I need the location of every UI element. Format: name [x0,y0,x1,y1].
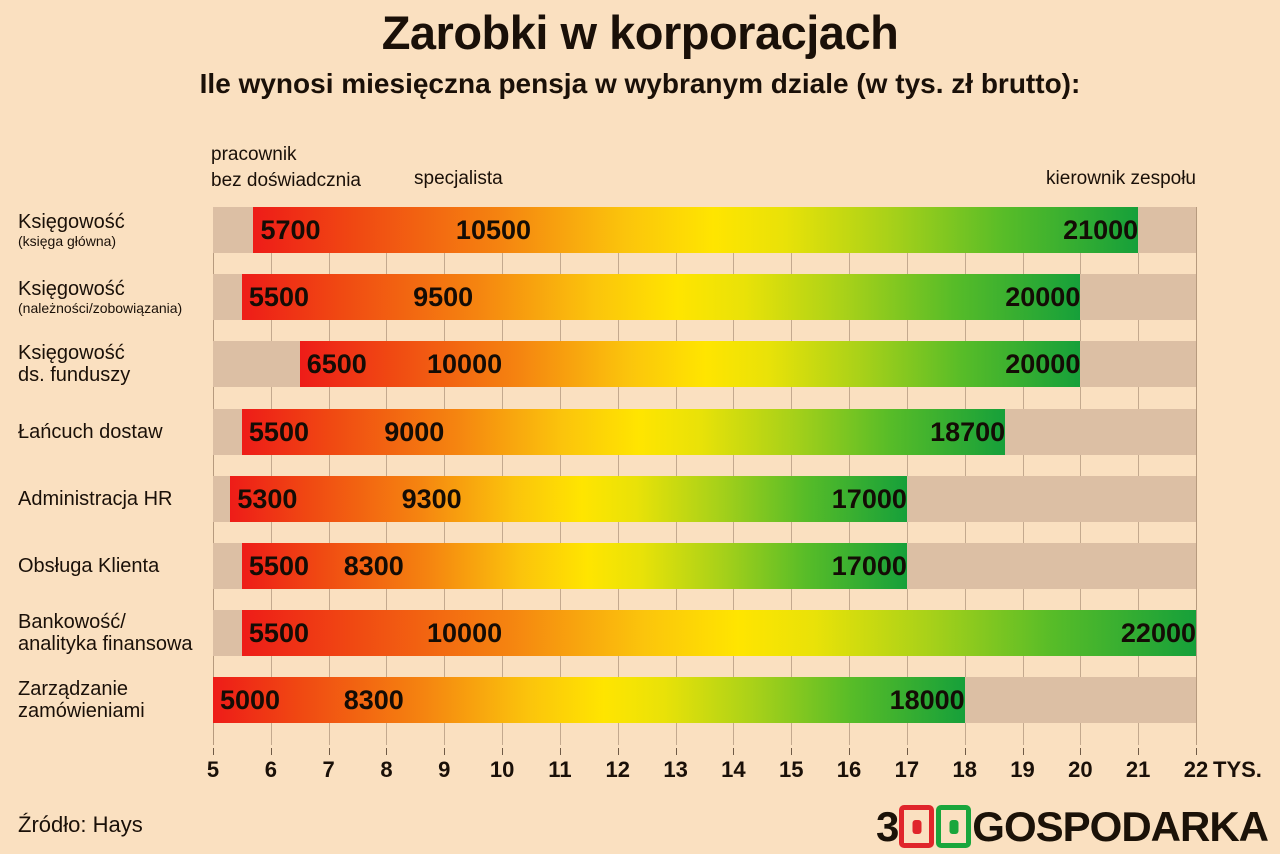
plot-area: 5700105002100055009500200006500100002000… [213,207,1196,745]
axis-tick [1138,748,1139,755]
axis-tick-label: 12 [606,757,630,783]
axis-tick [386,748,387,755]
category-label-main: Księgowość [18,342,125,364]
bar-value-manager: 17000 [213,543,916,589]
axis-tick-label: 16 [837,757,861,783]
axis-tick-label: 8 [380,757,392,783]
column-header-manager: kierownik zespołu [1046,166,1196,192]
axis-unit-label: TYS. [1213,757,1262,783]
axis-tick-label: 22 [1184,757,1208,783]
bar-row[interactable]: 65001000020000 [213,341,1196,387]
axis-tick [213,748,214,755]
category-label: Łańcuch dostaw [18,409,199,455]
bar-value-manager: 21000 [213,207,1147,253]
category-label-main: Administracja HR [18,488,172,510]
category-label-main: Łańcuch dostaw [18,421,163,443]
column-header-junior-line2: bez doświadcznia [211,168,361,194]
axis-tick [1080,748,1081,755]
x-axis: TYS. 5678910111213141516171819202122 [0,748,1280,788]
axis-tick [560,748,561,755]
category-label-sub: analityka finansowa [18,633,193,655]
bar-value-manager: 22000 [213,610,1205,656]
axis-tick [733,748,734,755]
axis-tick [1196,748,1197,755]
axis-tick-label: 21 [1126,757,1150,783]
page-title: Zarobki w korporacjach [0,8,1280,57]
axis-tick-label: 17 [895,757,919,783]
gridline [1196,207,1197,745]
bar-value-manager: 18000 [213,677,974,723]
axis-tick [502,748,503,755]
brand-logo: 3 GOSPODARKA [876,805,1268,848]
column-header-junior: pracownik bez doświadcznia [211,142,361,193]
column-headers: pracownik bez doświadcznia specjalista k… [0,140,1280,200]
column-header-junior-line1: pracownik [211,142,361,168]
axis-tick-label: 6 [265,757,277,783]
bar-row[interactable]: 5500830017000 [213,543,1196,589]
axis-tick-label: 15 [779,757,803,783]
bar-row[interactable]: 5500900018700 [213,409,1196,455]
source-note: Źródło: Hays [18,812,143,838]
axis-tick-label: 19 [1010,757,1034,783]
axis-tick-label: 14 [721,757,745,783]
logo-word: GOSPODARKA [972,806,1268,848]
axis-tick-label: 9 [438,757,450,783]
axis-tick [271,748,272,755]
axis-tick [618,748,619,755]
category-label-main: Zarządzanie [18,678,128,700]
bar-row[interactable]: 5000830018000 [213,677,1196,723]
chart-header: Zarobki w korporacjach Ile wynosi miesię… [0,0,1280,100]
page-subtitle: Ile wynosi miesięczna pensja w wybranym … [0,69,1280,100]
axis-tick [791,748,792,755]
axis-tick [444,748,445,755]
axis-tick-label: 11 [548,757,571,783]
category-label: Księgowośćds. funduszy [18,341,199,387]
column-header-specialist: specjalista [414,166,503,192]
bar-value-manager: 20000 [213,341,1089,387]
category-label: Obsługa Klienta [18,543,199,589]
bar-row[interactable]: 55001000022000 [213,610,1196,656]
category-label: Bankowość/analityka finansowa [18,610,199,656]
axis-tick-label: 13 [663,757,687,783]
logo-zero-green-icon [936,805,971,848]
axis-tick-label: 10 [490,757,514,783]
category-label-main: Bankowość/ [18,611,126,633]
category-label-sub: (księga główna) [18,233,116,249]
bar-value-manager: 18700 [213,409,1014,455]
axis-tick-label: 5 [207,757,219,783]
bar-value-manager: 17000 [213,476,916,522]
category-label-main: Księgowość [18,211,125,233]
axis-tick [965,748,966,755]
category-label-main: Obsługa Klienta [18,555,159,577]
bar-row[interactable]: 5500950020000 [213,274,1196,320]
category-label: Administracja HR [18,476,199,522]
bar-rows: 5700105002100055009500200006500100002000… [213,207,1196,745]
axis-tick-label: 18 [952,757,976,783]
category-label: Księgowość(należności/zobowiązania) [18,274,199,320]
bar-row[interactable]: 57001050021000 [213,207,1196,253]
category-label: Księgowość(księga główna) [18,207,199,253]
axis-tick-label: 7 [323,757,335,783]
category-label-sub: zamówieniami [18,700,145,722]
category-label-main: Księgowość [18,278,125,300]
logo-digit-three: 3 [876,806,898,848]
category-label-column: Księgowość(księga główna)Księgowość(nale… [0,207,205,745]
logo-zero-red-icon [899,805,934,848]
axis-tick [1023,748,1024,755]
bar-value-manager: 20000 [213,274,1089,320]
axis-tick [849,748,850,755]
bar-row[interactable]: 5300930017000 [213,476,1196,522]
axis-tick [907,748,908,755]
category-label: Zarządzaniezamówieniami [18,677,199,723]
axis-tick [329,748,330,755]
category-label-sub: ds. funduszy [18,364,130,386]
category-label-sub: (należności/zobowiązania) [18,300,182,316]
axis-tick [676,748,677,755]
axis-tick-label: 20 [1068,757,1092,783]
